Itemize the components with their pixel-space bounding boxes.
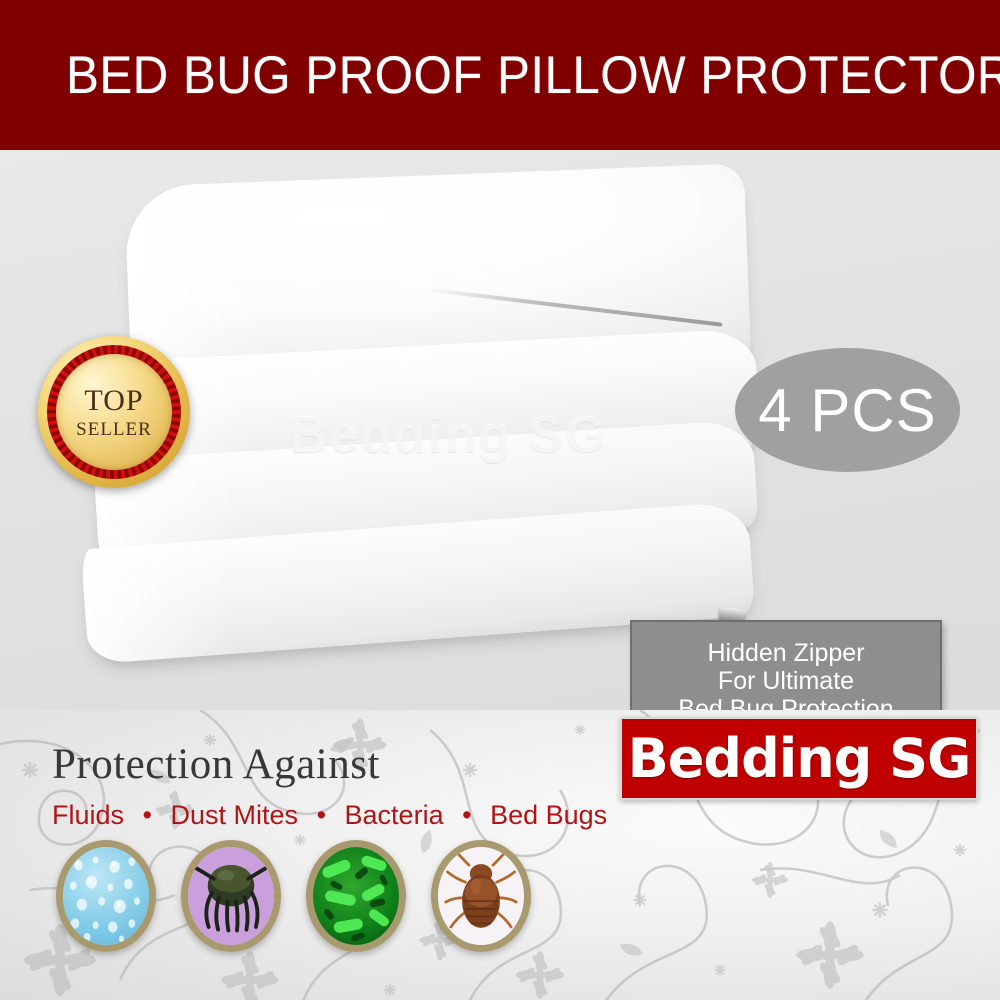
fluids-icon-background bbox=[63, 847, 149, 945]
protection-item-dust-mites: Dust Mites bbox=[171, 800, 299, 830]
header-banner: BED BUG PROOF PILLOW PROTECTOR bbox=[0, 0, 1000, 150]
bullet-separator-icon: • bbox=[317, 800, 326, 830]
bullet-separator-icon: • bbox=[143, 800, 152, 830]
dust-mite-icon bbox=[181, 840, 281, 952]
hidden-zipper-inset: Hidden Zipper For Ultimate Bed Bug Prote… bbox=[630, 620, 942, 710]
protection-icon-row bbox=[50, 840, 570, 960]
bed-bug-icon bbox=[431, 840, 531, 952]
quantity-badge-label: 4 PCS bbox=[758, 376, 936, 445]
badge-top-label: TOP bbox=[84, 386, 143, 416]
protection-items-list: Fluids • Dust Mites • Bacteria • Bed Bug… bbox=[52, 800, 607, 831]
zipper-caption-line-3: Bed Bug Protection bbox=[678, 695, 893, 710]
top-seller-badge: TOP SELLER bbox=[38, 336, 190, 488]
bed-bug-icon-background bbox=[438, 847, 524, 945]
bullet-separator-icon: • bbox=[462, 800, 471, 830]
badge-inner-disc: TOP SELLER bbox=[56, 354, 172, 470]
zipper-line-icon bbox=[426, 287, 722, 326]
bed-bug-shape bbox=[438, 847, 524, 945]
protection-item-fluids: Fluids bbox=[52, 800, 124, 830]
droplets-shapes bbox=[63, 847, 149, 945]
protection-item-bed-bugs: Bed Bugs bbox=[490, 800, 607, 830]
dust-mite-shape bbox=[188, 847, 274, 945]
quantity-badge: 4 PCS bbox=[735, 348, 960, 472]
zipper-caption-line-2: For Ultimate bbox=[718, 667, 854, 695]
zipper-caption-line-1: Hidden Zipper bbox=[707, 639, 864, 667]
product-showcase: Bedding SG TOP SELLER 4 PCS Size: 48 X 7… bbox=[0, 150, 1000, 710]
badge-seller-label: SELLER bbox=[76, 420, 152, 439]
advertisement-banner: BED BUG PROOF PILLOW PROTECTOR Bedding S… bbox=[0, 0, 1000, 1000]
page-title: BED BUG PROOF PILLOW PROTECTOR bbox=[66, 45, 1000, 106]
bacteria-icon-background bbox=[313, 847, 399, 945]
zipper-caption-panel: Hidden Zipper For Ultimate Bed Bug Prote… bbox=[632, 622, 940, 710]
bacteria-rods bbox=[313, 847, 399, 945]
brand-logo-text: Bedding SG bbox=[628, 727, 971, 790]
bacteria-icon bbox=[306, 840, 406, 952]
brand-logo[interactable]: Bedding SG bbox=[620, 717, 978, 800]
protection-item-bacteria: Bacteria bbox=[345, 800, 444, 830]
water-droplets-icon bbox=[56, 840, 156, 952]
protection-heading: Protection Against bbox=[52, 740, 380, 789]
dust-mite-icon-background bbox=[188, 847, 274, 945]
